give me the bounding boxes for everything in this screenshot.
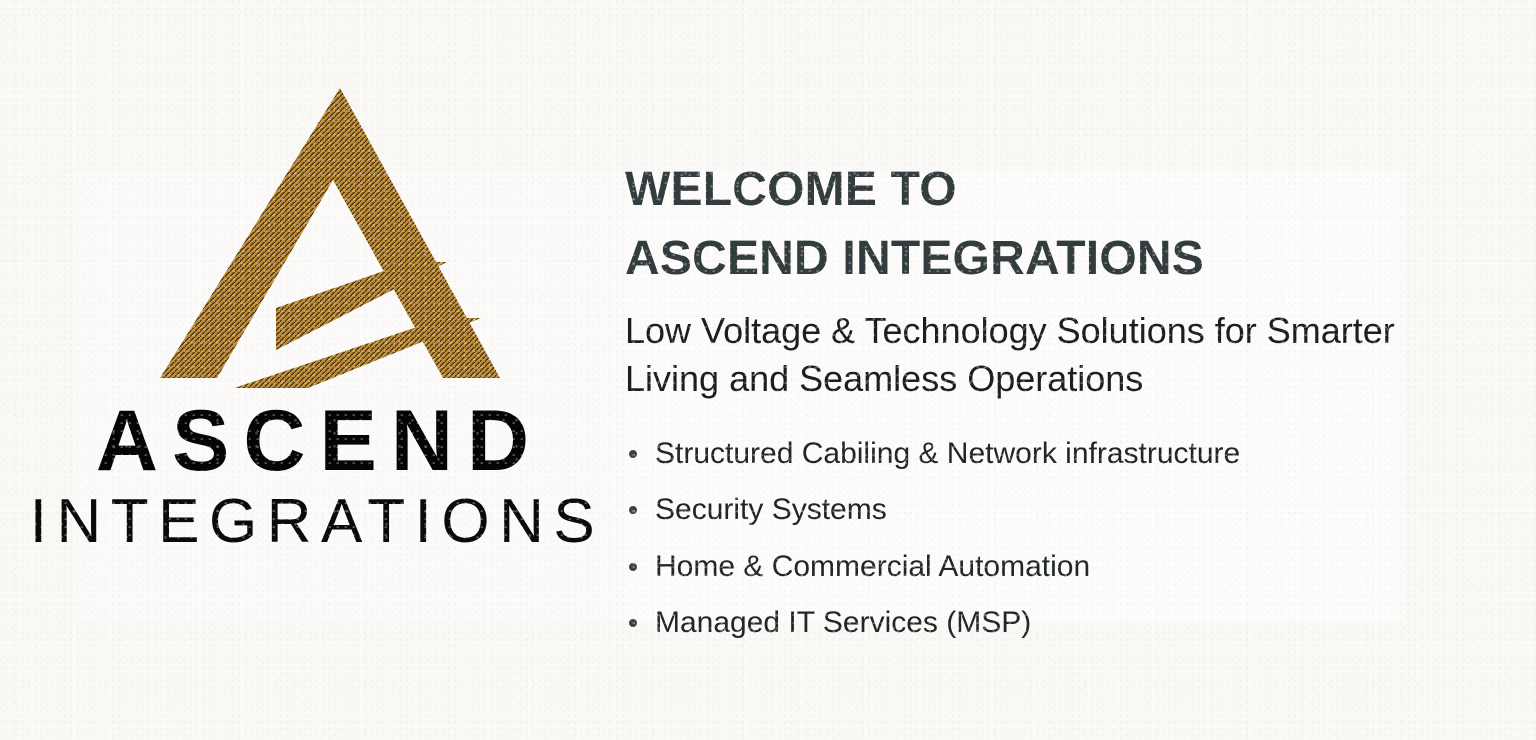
brand-column: ASCEND INTEGRATIONS <box>0 0 625 740</box>
headline-line-1: WELCOME TO <box>625 155 1536 224</box>
bullet-dot-icon <box>629 506 637 514</box>
subtitle-line-2: Living and Seamless Operations <box>625 355 1445 403</box>
headline-line-2: ASCEND INTEGRATIONS <box>625 224 1536 293</box>
list-item-label: Security Systems <box>655 493 887 526</box>
bullet-dot-icon <box>629 563 637 571</box>
list-item-label: Managed IT Services (MSP) <box>655 606 1031 639</box>
subtitle: Low Voltage & Technology Solutions for S… <box>625 307 1445 402</box>
wordmark-integrations: INTEGRATIONS <box>0 484 625 560</box>
wordmark: ASCEND INTEGRATIONS <box>0 398 625 560</box>
page-title: WELCOME TO ASCEND INTEGRATIONS <box>625 155 1536 293</box>
bullet-dot-icon <box>629 450 637 458</box>
list-item: Managed IT Services (MSP) <box>625 601 1536 644</box>
copy-column: WELCOME TO ASCEND INTEGRATIONS Low Volta… <box>625 0 1536 657</box>
list-item: Security Systems <box>625 488 1536 531</box>
poster-canvas: ASCEND INTEGRATIONS WELCOME TO ASCEND IN… <box>0 0 1536 740</box>
list-item-label: Structured Cabiling & Network infrastruc… <box>655 437 1240 470</box>
poster-stage: ASCEND INTEGRATIONS WELCOME TO ASCEND IN… <box>0 0 1536 740</box>
list-item-label: Home & Commercial Automation <box>655 550 1090 583</box>
bullet-dot-icon <box>629 619 637 627</box>
wordmark-ascend: ASCEND <box>0 398 625 484</box>
list-item: Structured Cabiling & Network infrastruc… <box>625 432 1536 475</box>
services-list: Structured Cabiling & Network infrastruc… <box>625 432 1536 644</box>
ascend-triangle-a-logo-icon <box>160 82 500 394</box>
subtitle-line-1: Low Voltage & Technology Solutions for S… <box>625 307 1445 355</box>
list-item: Home & Commercial Automation <box>625 545 1536 588</box>
